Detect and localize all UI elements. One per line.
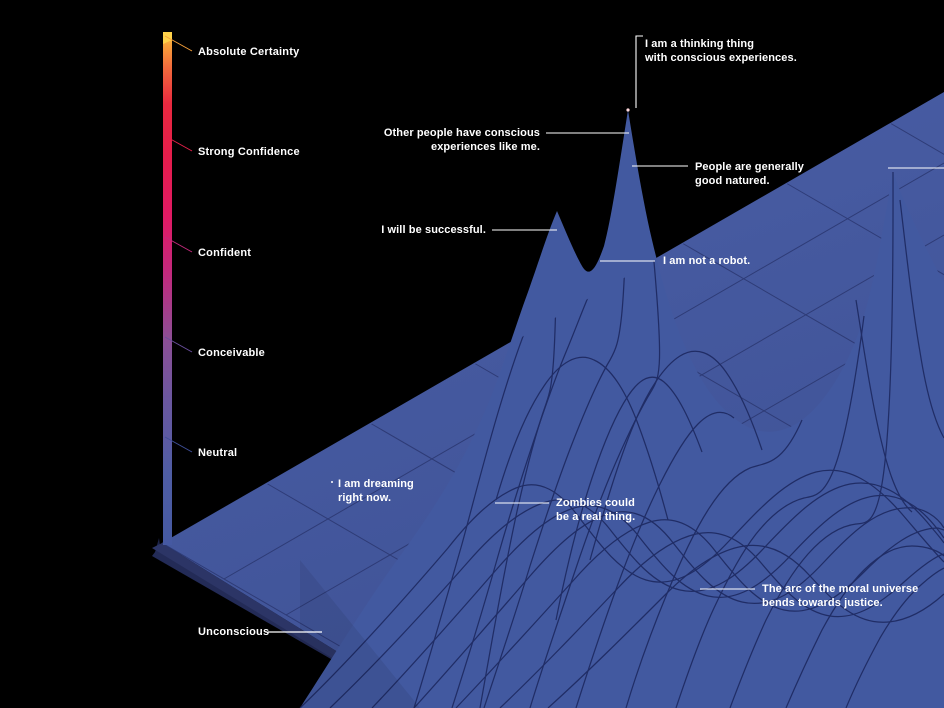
callout-thinking-thing: I am a thinking thing with conscious exp… xyxy=(645,38,925,65)
callout-other-people-conscious: Other people have conscious experiences … xyxy=(334,127,540,154)
callout-dreaming-now: I am dreaming right now. xyxy=(338,478,498,505)
dreaming-dot-marker xyxy=(331,481,333,483)
callout-zombies-real: Zombies could be a real thing. xyxy=(556,497,726,524)
surface-plot-canvas: Absolute Certainty Strong Confidence Con… xyxy=(0,0,944,708)
callout-will-be-successful: I will be successful. xyxy=(300,224,486,238)
axis-label-confident: Confident xyxy=(198,247,251,260)
axis-label-conceivable: Conceivable xyxy=(198,347,265,360)
axis-label-absolute-certainty: Absolute Certainty xyxy=(198,46,299,59)
axis-colorbar xyxy=(163,32,172,545)
leader-thinking-thing xyxy=(636,36,643,108)
axis-label-neutral: Neutral xyxy=(198,447,237,460)
callout-moral-universe: The arc of the moral universe bends towa… xyxy=(762,583,944,610)
callout-not-a-robot: I am not a robot. xyxy=(663,255,863,269)
axis-label-strong-confidence: Strong Confidence xyxy=(198,146,300,159)
axis-label-unconscious: Unconscious xyxy=(198,626,269,639)
peak-marker-thinking-thing xyxy=(626,108,629,111)
callout-people-good-natured: People are generally good natured. xyxy=(695,161,925,188)
